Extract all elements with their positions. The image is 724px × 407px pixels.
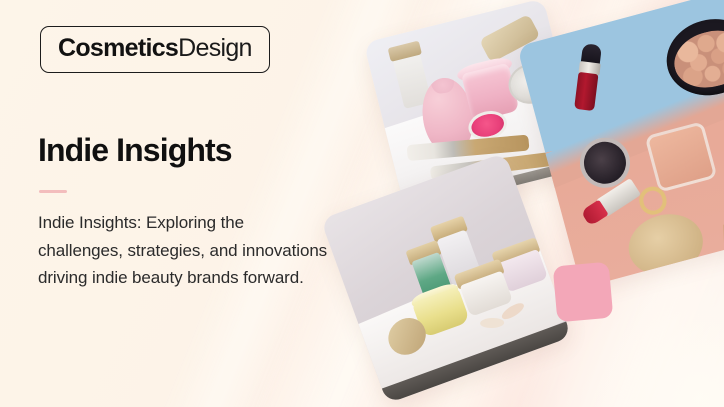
photo-collage	[330, 0, 724, 407]
photo-bronzer-bowl	[658, 9, 724, 105]
pink-accent-square	[553, 262, 614, 323]
logo-light-text: Design	[178, 36, 252, 61]
photo-lipstick-body	[574, 72, 598, 112]
photo-wooden-compact	[622, 206, 710, 283]
indie-insights-banner: Cosmetics Design Indie Insights Indie In…	[0, 0, 724, 407]
cosmetics-flatlay-photo	[517, 0, 724, 288]
page-title: Indie Insights	[38, 133, 232, 168]
title-divider-rule	[39, 190, 67, 193]
page-description: Indie Insights: Exploring the challenges…	[38, 209, 330, 292]
cosmetics-design-logo[interactable]: Cosmetics Design	[40, 26, 270, 73]
photo-petal-1	[480, 318, 504, 329]
text-content-column: Cosmetics Design Indie Insights Indie In…	[0, 0, 360, 407]
logo-bold-text: Cosmetics	[58, 36, 178, 61]
photo-bronzer-pearls	[668, 22, 724, 95]
skincare-jars-photo	[320, 152, 571, 403]
photo-lipstick-dark	[573, 43, 603, 110]
